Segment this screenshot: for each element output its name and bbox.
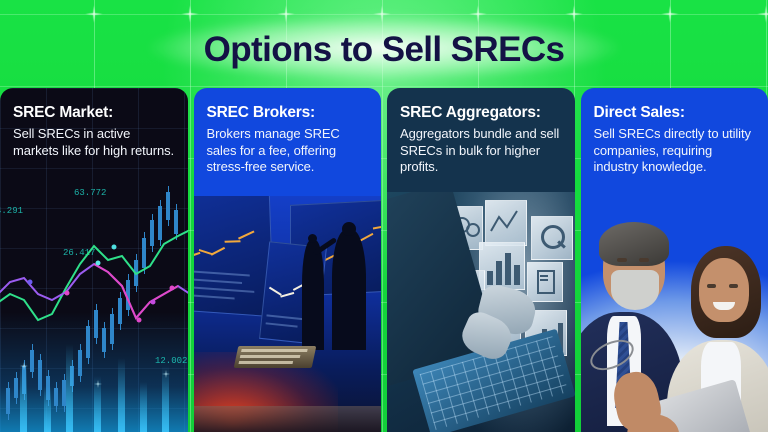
series-point xyxy=(28,280,33,285)
monitor-left xyxy=(194,196,274,317)
card-direct-sales[interactable]: Direct Sales: Sell SRECs directly to uti… xyxy=(581,88,768,432)
series-point xyxy=(65,291,70,296)
woman-face xyxy=(699,258,749,322)
desk-surface xyxy=(194,406,382,432)
man-hair xyxy=(599,222,669,266)
series-point xyxy=(170,286,175,291)
page-title: Options to Sell SRECs xyxy=(204,30,565,70)
gear-icon xyxy=(466,223,480,237)
document-icon xyxy=(537,270,555,294)
card-art-laptop-analytics: $ xyxy=(387,192,575,432)
person-head xyxy=(342,222,356,236)
woman-eye xyxy=(729,284,738,288)
card-heading: Direct Sales: xyxy=(594,104,756,122)
page-title-area: Options to Sell SRECs xyxy=(0,0,768,88)
man-beard xyxy=(611,270,659,310)
holo-panel-document xyxy=(527,262,563,302)
card-srec-brokers[interactable]: SREC Brokers: Brokers manage SREC sales … xyxy=(194,88,382,432)
card-description: Sell SRECs directly to utility companies… xyxy=(594,126,756,176)
card-text-block: Direct Sales: Sell SRECs directly to uti… xyxy=(581,88,768,176)
card-description: Aggregators bundle and sell SRECs in bul… xyxy=(400,126,562,176)
card-description: Sell SRECs in active markets like for hi… xyxy=(13,126,175,159)
holo-panel-line-chart xyxy=(485,200,527,246)
card-srec-market[interactable]: 4.291 63.772 26.417 12.002 xyxy=(0,88,188,432)
series-point xyxy=(151,300,156,305)
card-text-block: SREC Aggregators: Aggregators bundle and… xyxy=(387,88,575,176)
infographic-stage: Options to Sell SRECs 4.291 63.772 26.41… xyxy=(0,0,768,432)
holo-panel-magnifier xyxy=(531,216,573,260)
holo-panel-bar-chart xyxy=(479,242,525,290)
woman-eye xyxy=(707,284,716,288)
card-art-trading-desk xyxy=(194,196,382,432)
card-heading: SREC Aggregators: xyxy=(400,104,562,122)
card-heading: SREC Market: xyxy=(13,104,175,122)
series-point xyxy=(137,318,142,323)
line-chart-icon xyxy=(486,201,526,245)
card-text-block: SREC Brokers: Brokers manage SREC sales … xyxy=(194,88,382,176)
man-eye xyxy=(617,258,627,262)
person-silhouette xyxy=(302,240,324,350)
person-silhouette xyxy=(332,230,366,350)
options-card-row: 4.291 63.772 26.417 12.002 xyxy=(0,88,768,432)
person-head xyxy=(308,234,317,243)
card-srec-aggregators[interactable]: $ SREC Aggregators: Ag xyxy=(387,88,575,432)
card-text-block: SREC Market: Sell SRECs in active market… xyxy=(0,88,188,159)
keyboard xyxy=(233,346,316,368)
card-description: Brokers manage SREC sales for a fee, off… xyxy=(207,126,369,176)
woman-smile xyxy=(713,302,735,310)
series-point xyxy=(96,261,101,266)
card-heading: SREC Brokers: xyxy=(207,104,369,122)
man-eye xyxy=(639,258,649,262)
card-art-business-people xyxy=(581,192,768,432)
series-point xyxy=(112,245,117,250)
